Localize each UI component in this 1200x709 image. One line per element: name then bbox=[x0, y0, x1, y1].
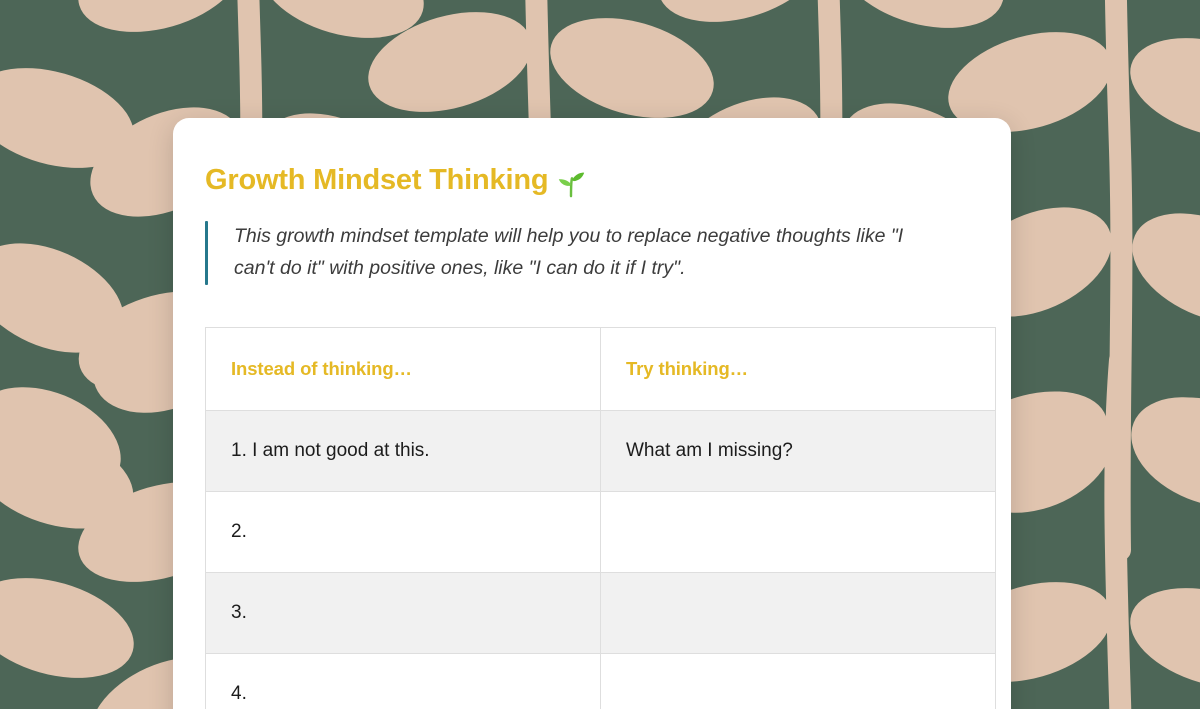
cell-instead[interactable]: 1. I am not good at this. bbox=[206, 410, 601, 491]
column-header-try: Try thinking… bbox=[601, 327, 996, 410]
page-title-text: Growth Mindset Thinking bbox=[205, 164, 548, 197]
document-card: Growth Mindset Thinking This growth mind… bbox=[173, 118, 1011, 709]
cell-try[interactable] bbox=[601, 572, 996, 653]
table-row: 1. I am not good at this. What am I miss… bbox=[206, 410, 996, 491]
column-header-instead: Instead of thinking… bbox=[206, 327, 601, 410]
cell-try[interactable]: What am I missing? bbox=[601, 410, 996, 491]
intro-text: This growth mindset template will help y… bbox=[208, 221, 938, 285]
seedling-icon bbox=[556, 168, 586, 198]
table-row: 4. bbox=[206, 653, 996, 709]
intro-blockquote: This growth mindset template will help y… bbox=[205, 221, 979, 285]
cell-instead[interactable]: 4. bbox=[206, 653, 601, 709]
page-title: Growth Mindset Thinking bbox=[205, 164, 979, 197]
cell-try[interactable] bbox=[601, 491, 996, 572]
cell-instead[interactable]: 3. bbox=[206, 572, 601, 653]
table-row: 2. bbox=[206, 491, 996, 572]
cell-try[interactable] bbox=[601, 653, 996, 709]
growth-mindset-table: Instead of thinking… Try thinking… 1. I … bbox=[205, 327, 996, 709]
table-header-row: Instead of thinking… Try thinking… bbox=[206, 327, 996, 410]
table-row: 3. bbox=[206, 572, 996, 653]
cell-instead[interactable]: 2. bbox=[206, 491, 601, 572]
